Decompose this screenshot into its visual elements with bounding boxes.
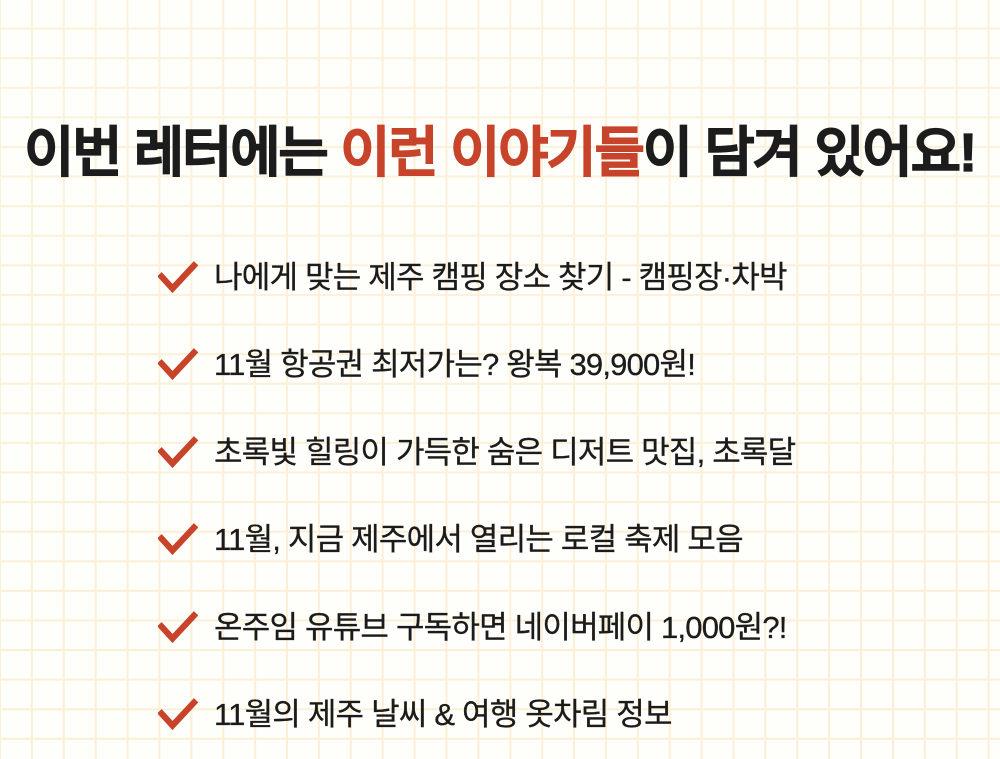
list-item-label: 11월의 제주 날씨 & 여행 옷차림 정보	[214, 698, 672, 732]
list-item[interactable]: 11월, 지금 제주에서 열리는 로컬 축제 모음	[0, 497, 1000, 585]
list-item-label: 나에게 맞는 제주 캠핑 장소 찾기 - 캠핑장·차박	[214, 261, 787, 295]
list-item-label: 온주임 유튜브 구독하면 네이버페이 1,000원?!	[214, 611, 787, 645]
newsletter-toc-page: 이번 레터에는 이런 이야기들이 담겨 있어요! 나에게 맞는 제주 캠핑 장소…	[0, 0, 1000, 759]
page-title-accent: 이런 이야기들	[340, 123, 643, 183]
list-item[interactable]: 초록빛 힐링이 가득한 숨은 디저트 맛집, 초록달	[0, 409, 1000, 497]
list-item[interactable]: 11월의 제주 날씨 & 여행 옷차림 정보	[0, 672, 1000, 759]
check-icon	[158, 611, 198, 645]
table-of-contents-list: 나에게 맞는 제주 캠핑 장소 찾기 - 캠핑장·차박 11월 항공권 최저가는…	[0, 234, 1000, 759]
page-title: 이번 레터에는 이런 이야기들이 담겨 있어요!	[0, 122, 1000, 184]
page-content: 이번 레터에는 이런 이야기들이 담겨 있어요! 나에게 맞는 제주 캠핑 장소…	[0, 0, 1000, 759]
page-title-suffix: 이 담겨 있어요!	[643, 123, 976, 183]
check-icon	[158, 436, 198, 470]
list-item-label: 11월, 지금 제주에서 열리는 로컬 축제 모음	[214, 523, 743, 557]
list-item[interactable]: 온주임 유튜브 구독하면 네이버페이 1,000원?!	[0, 584, 1000, 672]
list-item-label: 11월 항공권 최저가는? 왕복 39,900원!	[214, 348, 695, 382]
page-title-prefix: 이번 레터에는	[24, 123, 340, 183]
list-item-label: 초록빛 힐링이 가득한 숨은 디저트 맛집, 초록달	[214, 436, 795, 470]
check-icon	[158, 348, 198, 382]
check-icon	[158, 523, 198, 557]
check-icon	[158, 698, 198, 732]
check-icon	[158, 261, 198, 295]
list-item[interactable]: 11월 항공권 최저가는? 왕복 39,900원!	[0, 322, 1000, 410]
list-item[interactable]: 나에게 맞는 제주 캠핑 장소 찾기 - 캠핑장·차박	[0, 234, 1000, 322]
